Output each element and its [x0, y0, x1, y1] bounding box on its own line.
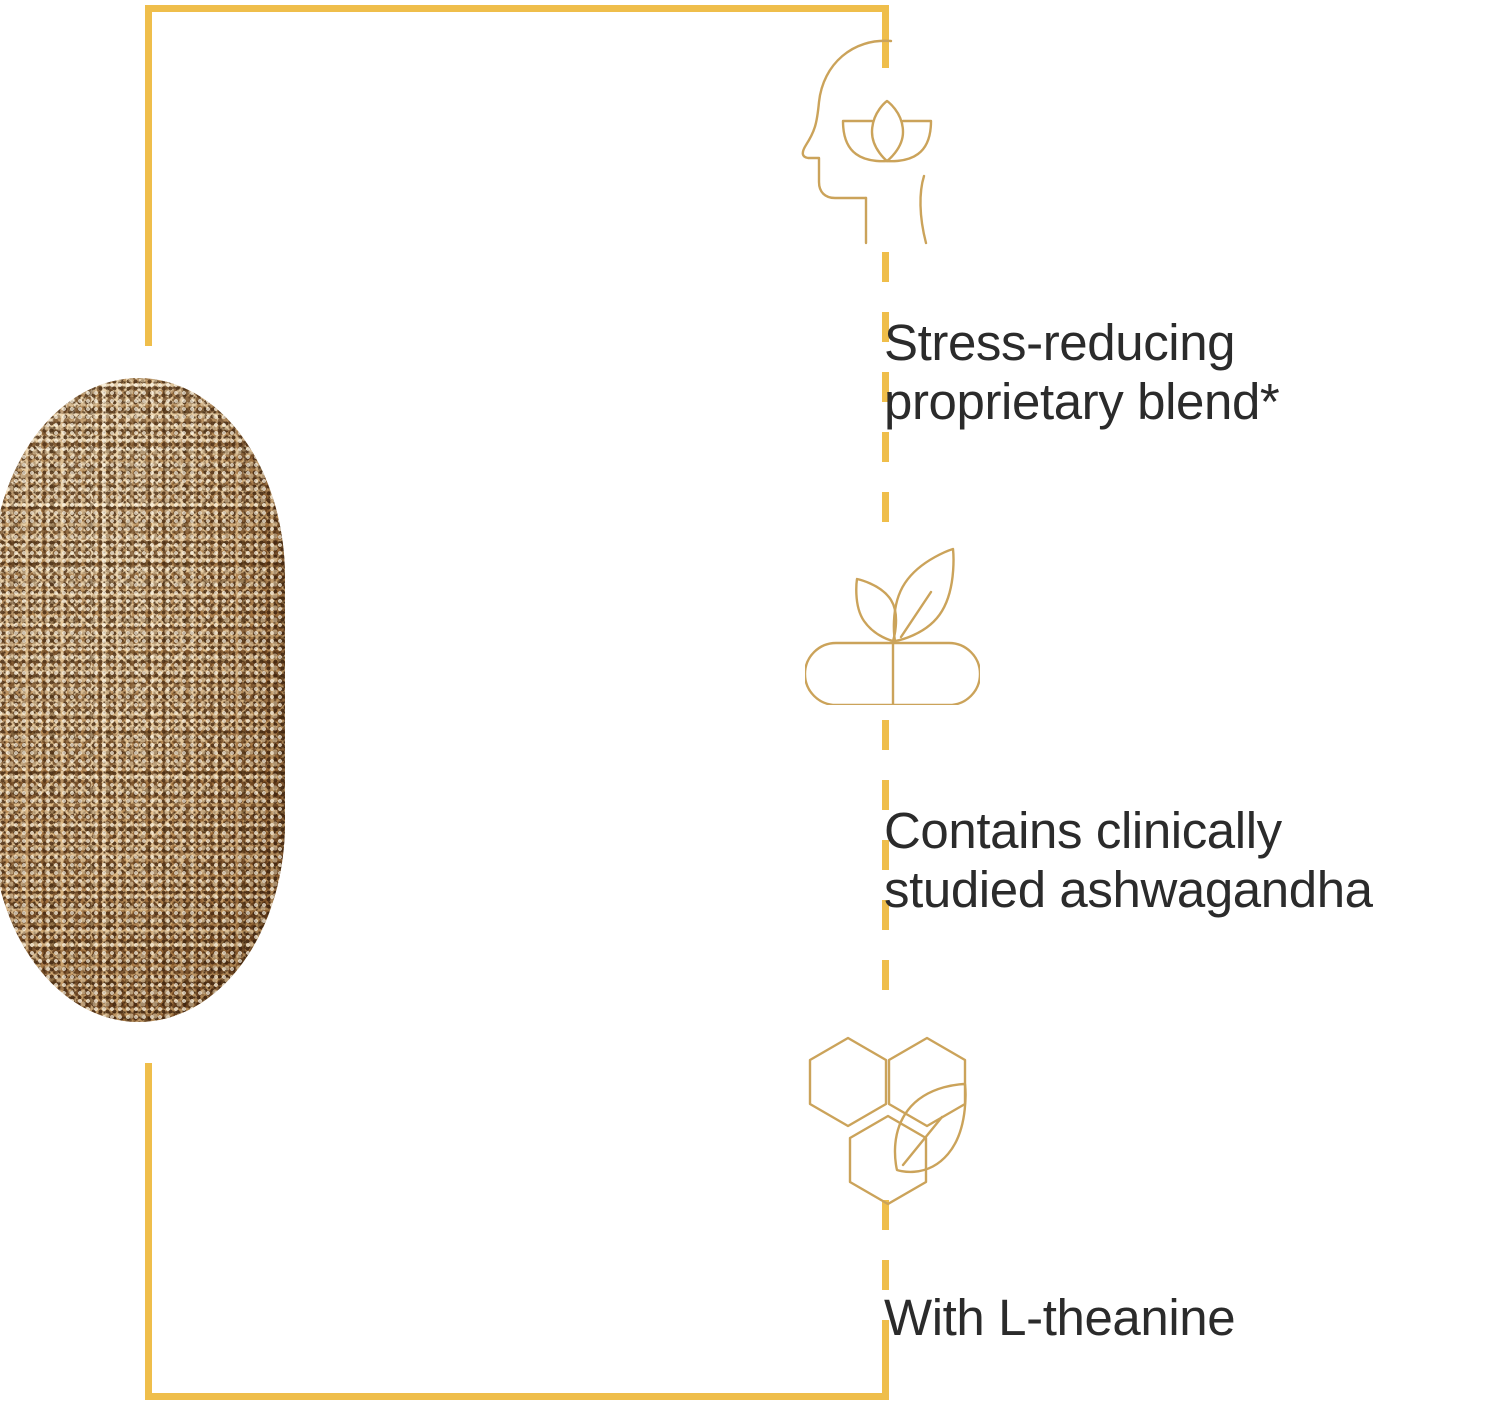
tablet-speckle-layer-2: [0, 378, 285, 1022]
frame-left-upper-edge: [145, 5, 152, 346]
honeycomb-with-leaf-icon: [800, 1032, 980, 1212]
infographic-canvas: Stress-reducing proprietary blend* Conta…: [0, 0, 1500, 1407]
supplement-tablet-image: [0, 378, 285, 1022]
benefit-text-stress-reducing: Stress-reducing proprietary blend*: [884, 313, 1279, 431]
frame-left-lower-edge: [145, 1063, 152, 1400]
frame-bottom-edge: [145, 1393, 889, 1400]
head-with-lotus-icon: [793, 30, 983, 250]
capsule-with-leaves-icon: [805, 545, 980, 705]
benefit-text-ashwagandha: Contains clinically studied ashwagandha: [884, 801, 1373, 919]
benefit-text-l-theanine: With L-theanine: [884, 1288, 1235, 1347]
frame-top-edge: [145, 5, 889, 12]
